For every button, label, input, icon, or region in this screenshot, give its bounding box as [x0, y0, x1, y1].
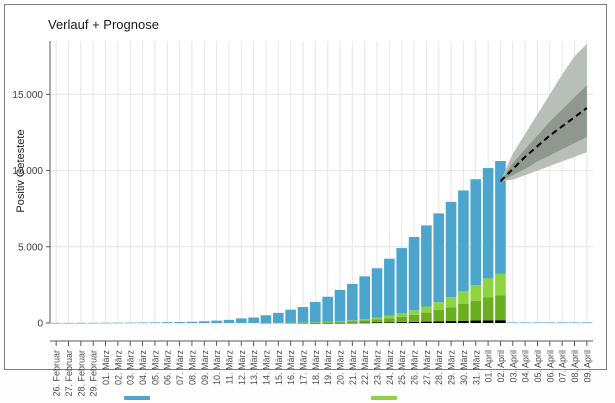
bar-segment[interactable]: [162, 322, 173, 323]
forecast-group: [500, 44, 586, 181]
x-tick-label: 06. März: [163, 350, 173, 386]
bar-segment[interactable]: [458, 321, 469, 323]
x-tick-label: 13. März: [249, 350, 259, 386]
bar-segment[interactable]: [51, 323, 62, 324]
x-tick-label: 19. März: [323, 350, 333, 386]
bar-segment[interactable]: [273, 313, 284, 323]
bar-segment[interactable]: [372, 268, 383, 317]
x-tick-label: 16. März: [286, 350, 296, 386]
bar-segment[interactable]: [273, 323, 284, 324]
bar-segment[interactable]: [359, 320, 370, 322]
bar-segment[interactable]: [470, 301, 481, 321]
bar-segment[interactable]: [458, 190, 469, 291]
bar-segment[interactable]: [372, 322, 383, 323]
bar-segment[interactable]: [347, 320, 358, 321]
bar-segment[interactable]: [433, 302, 444, 310]
bar-segment[interactable]: [396, 317, 407, 322]
bar-segment[interactable]: [421, 307, 432, 313]
bar-segment[interactable]: [507, 322, 518, 323]
bar-segment[interactable]: [582, 322, 593, 323]
bar-segment[interactable]: [458, 291, 469, 304]
x-tick-label: 09. April: [582, 350, 592, 383]
x-tick-label: 03. April: [508, 350, 518, 383]
x-tick-label: 08. März: [187, 350, 197, 386]
x-axis: 26. Februar27. Februar28. Februar29. Feb…: [50, 341, 593, 397]
x-tick-label: 27. Februar: [64, 350, 74, 397]
x-tick-label: 28. März: [434, 350, 444, 386]
bar-segment[interactable]: [335, 322, 346, 323]
x-tick-label: 27. März: [422, 350, 432, 386]
x-tick-label: 01. März: [101, 350, 111, 386]
bar-segment[interactable]: [458, 304, 469, 321]
x-tick-label: 05. März: [150, 350, 160, 386]
bar-segment[interactable]: [322, 322, 333, 323]
bar-segment[interactable]: [322, 323, 333, 324]
bar-segment[interactable]: [88, 323, 99, 324]
bar-segment[interactable]: [409, 322, 420, 323]
x-tick-label: 09. März: [200, 350, 210, 386]
bar-segment[interactable]: [248, 317, 259, 323]
bar-segment[interactable]: [433, 310, 444, 321]
bar-segment[interactable]: [236, 318, 247, 323]
x-tick-label: 04. April: [521, 350, 531, 383]
bar-segment[interactable]: [310, 302, 321, 322]
bar-segment[interactable]: [335, 321, 346, 322]
bar-segment[interactable]: [347, 321, 358, 323]
bar-segment[interactable]: [483, 320, 494, 323]
bar-segment[interactable]: [557, 322, 568, 323]
x-tick-label: 26. Februar: [52, 350, 62, 397]
x-tick-label: 17. März: [298, 350, 308, 386]
bar-segment[interactable]: [261, 315, 272, 323]
bar-segment[interactable]: [224, 320, 235, 323]
bar-segment[interactable]: [359, 319, 370, 320]
bar-segment[interactable]: [322, 297, 333, 322]
x-tick-label: 20. März: [336, 350, 346, 386]
x-tick-label: 02. März: [113, 350, 123, 386]
bar-segment[interactable]: [63, 323, 74, 324]
bar-segment[interactable]: [446, 202, 457, 297]
bar-segment[interactable]: [409, 237, 420, 310]
bar-segment[interactable]: [483, 297, 494, 320]
bar-segment[interactable]: [100, 323, 111, 324]
bar-segment[interactable]: [396, 322, 407, 323]
x-tick-label: 04. März: [138, 350, 148, 386]
y-tick-label: 10.000: [12, 166, 43, 177]
bar-segment[interactable]: [409, 310, 420, 315]
y-tick-label: 5.000: [18, 242, 43, 253]
bar-segment[interactable]: [470, 321, 481, 323]
bar-segment[interactable]: [495, 274, 506, 295]
bar-segment[interactable]: [396, 313, 407, 316]
bar-segment[interactable]: [310, 322, 321, 323]
bars-group: [51, 161, 592, 324]
bar-segment[interactable]: [285, 310, 296, 323]
bar-segment[interactable]: [76, 323, 87, 324]
x-tick-label: 14. März: [261, 350, 271, 386]
x-tick-label: 02. April: [496, 350, 506, 383]
x-tick-label: 06. April: [545, 350, 555, 383]
bar-segment[interactable]: [520, 322, 531, 323]
bar-segment[interactable]: [433, 321, 444, 323]
bar-segment[interactable]: [384, 316, 395, 318]
chart-page: Verlauf + Prognose Positiv Getestete 05.…: [0, 0, 615, 403]
x-tick-label: 29. Februar: [89, 350, 99, 397]
bar-segment[interactable]: [187, 322, 198, 323]
bar-segment[interactable]: [470, 179, 481, 285]
x-tick-label: 12. März: [237, 350, 247, 386]
x-tick-label: 21. März: [348, 350, 358, 386]
x-tick-label: 26. März: [410, 350, 420, 386]
bar-segment[interactable]: [483, 278, 494, 297]
bar-segment[interactable]: [384, 318, 395, 322]
x-tick-label: 28. Februar: [76, 350, 86, 397]
bar-segment[interactable]: [495, 295, 506, 320]
y-tick-label: 15.000: [12, 90, 43, 101]
chart-plot: 05.00010.00015.000 26. Februar27. Februa…: [0, 0, 615, 403]
x-tick-label: 15. März: [274, 350, 284, 386]
x-tick-label: 10. März: [212, 350, 222, 386]
bar-segment[interactable]: [446, 321, 457, 323]
x-tick-label: 18. März: [311, 350, 321, 386]
x-tick-label: 03. März: [126, 350, 136, 386]
bar-segment[interactable]: [335, 290, 346, 321]
bar-segment[interactable]: [199, 321, 210, 323]
x-tick-label: 25. März: [397, 350, 407, 386]
bar-segment[interactable]: [285, 323, 296, 324]
x-tick-label: 05. April: [533, 350, 543, 383]
x-tick-label: 23. März: [373, 350, 383, 386]
bar-segment[interactable]: [532, 322, 543, 323]
y-axis: 05.00010.00015.000: [12, 41, 50, 330]
grid-lines: [50, 41, 593, 323]
bar-segment[interactable]: [372, 318, 383, 320]
bar-segment[interactable]: [298, 307, 309, 323]
bar-segment[interactable]: [569, 322, 580, 323]
bar-segment[interactable]: [396, 248, 407, 313]
bar-segment[interactable]: [446, 297, 457, 307]
bar-segment[interactable]: [421, 225, 432, 306]
bar-segment[interactable]: [211, 321, 222, 323]
bar-segment[interactable]: [150, 322, 161, 323]
x-tick-label: 07. März: [175, 350, 185, 386]
bar-segment[interactable]: [298, 323, 309, 324]
x-tick-label: 01. April: [484, 350, 494, 383]
bar-segment[interactable]: [470, 285, 481, 301]
x-tick-label: 29. März: [447, 350, 457, 386]
x-tick-label: 31. März: [471, 350, 481, 386]
x-tick-label: 24. März: [385, 350, 395, 386]
bar-segment[interactable]: [372, 319, 383, 322]
legend-swatch-green[interactable]: [371, 396, 397, 400]
bar-segment[interactable]: [137, 323, 148, 324]
x-tick-label: 07. April: [558, 350, 568, 383]
bar-segment[interactable]: [433, 213, 444, 302]
bar-segment[interactable]: [261, 323, 272, 324]
bar-segment[interactable]: [421, 313, 432, 322]
bar-segment[interactable]: [495, 320, 506, 323]
bar-segment[interactable]: [483, 168, 494, 278]
bar-segment[interactable]: [113, 323, 124, 324]
bar-segment[interactable]: [335, 323, 346, 324]
x-tick-label: 11. März: [224, 350, 234, 385]
bar-segment[interactable]: [384, 322, 395, 323]
bar-segment[interactable]: [409, 315, 420, 322]
bar-segment[interactable]: [125, 323, 136, 324]
y-tick-label: 0: [37, 319, 43, 330]
bar-segment[interactable]: [359, 323, 370, 324]
x-tick-label: 30. März: [459, 350, 469, 386]
bar-segment[interactable]: [384, 259, 395, 316]
bar-segment[interactable]: [347, 284, 358, 320]
x-tick-label: 08. April: [570, 350, 580, 383]
bar-segment[interactable]: [347, 323, 358, 324]
x-tick-label: 22. März: [360, 350, 370, 386]
bar-segment[interactable]: [359, 276, 370, 319]
bar-segment[interactable]: [545, 322, 556, 323]
bar-segment[interactable]: [421, 322, 432, 323]
bar-segment[interactable]: [446, 307, 457, 321]
legend-swatch-blue[interactable]: [124, 396, 150, 400]
bar-segment[interactable]: [174, 322, 185, 323]
